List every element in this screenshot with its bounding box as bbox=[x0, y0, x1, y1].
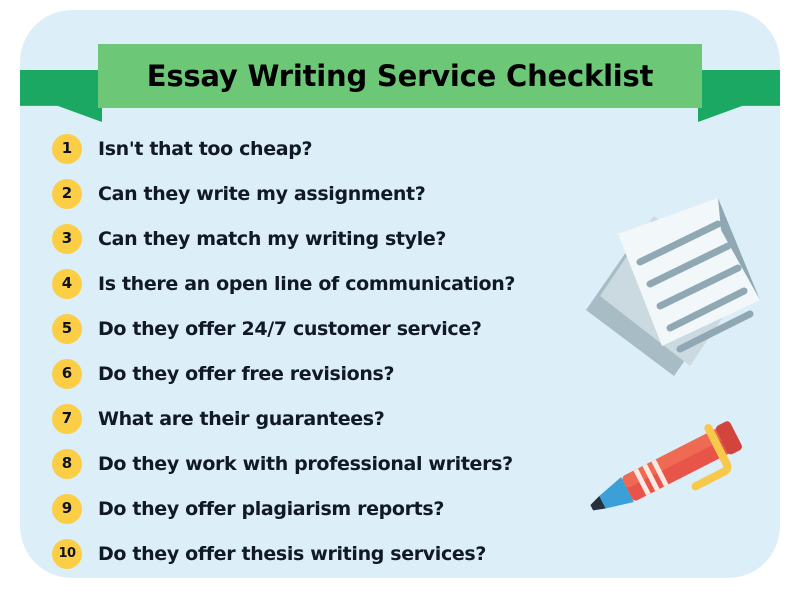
item-label: Can they write my assignment? bbox=[98, 183, 425, 205]
item-label: What are their guarantees? bbox=[98, 408, 384, 430]
list-item: 8 Do they work with professional writers… bbox=[52, 441, 672, 486]
item-number-badge: 10 bbox=[52, 539, 82, 569]
item-number-badge: 6 bbox=[52, 359, 82, 389]
list-item: 5 Do they offer 24/7 customer service? bbox=[52, 306, 672, 351]
ribbon-band: Essay Writing Service Checklist bbox=[98, 44, 702, 108]
item-label: Isn't that too cheap? bbox=[98, 138, 312, 160]
page-title: Essay Writing Service Checklist bbox=[147, 59, 654, 93]
item-number-badge: 2 bbox=[52, 179, 82, 209]
list-item: 2 Can they write my assignment? bbox=[52, 171, 672, 216]
item-label: Can they match my writing style? bbox=[98, 228, 446, 250]
infographic-root: Essay Writing Service Checklist 1 Isn't … bbox=[0, 0, 800, 600]
list-item: 10 Do they offer thesis writing services… bbox=[52, 531, 672, 576]
item-label: Do they work with professional writers? bbox=[98, 453, 513, 475]
item-label: Do they offer thesis writing services? bbox=[98, 543, 486, 565]
list-item: 9 Do they offer plagiarism reports? bbox=[52, 486, 672, 531]
list-item: 7 What are their guarantees? bbox=[52, 396, 672, 441]
item-number-badge: 3 bbox=[52, 224, 82, 254]
list-item: 6 Do they offer free revisions? bbox=[52, 351, 672, 396]
checklist: 1 Isn't that too cheap? 2 Can they write… bbox=[52, 126, 672, 576]
item-label: Is there an open line of communication? bbox=[98, 273, 515, 295]
item-number-badge: 9 bbox=[52, 494, 82, 524]
list-item: 4 Is there an open line of communication… bbox=[52, 261, 672, 306]
ribbon-tail-left bbox=[20, 70, 102, 122]
ribbon-header: Essay Writing Service Checklist bbox=[0, 0, 800, 130]
item-number-badge: 7 bbox=[52, 404, 82, 434]
item-label: Do they offer 24/7 customer service? bbox=[98, 318, 482, 340]
item-number-badge: 5 bbox=[52, 314, 82, 344]
item-number-badge: 1 bbox=[52, 134, 82, 164]
list-item: 1 Isn't that too cheap? bbox=[52, 126, 672, 171]
ribbon-tail-right bbox=[698, 70, 780, 122]
item-number-badge: 8 bbox=[52, 449, 82, 479]
list-item: 3 Can they match my writing style? bbox=[52, 216, 672, 261]
item-label: Do they offer plagiarism reports? bbox=[98, 498, 444, 520]
item-number-badge: 4 bbox=[52, 269, 82, 299]
item-label: Do they offer free revisions? bbox=[98, 363, 394, 385]
